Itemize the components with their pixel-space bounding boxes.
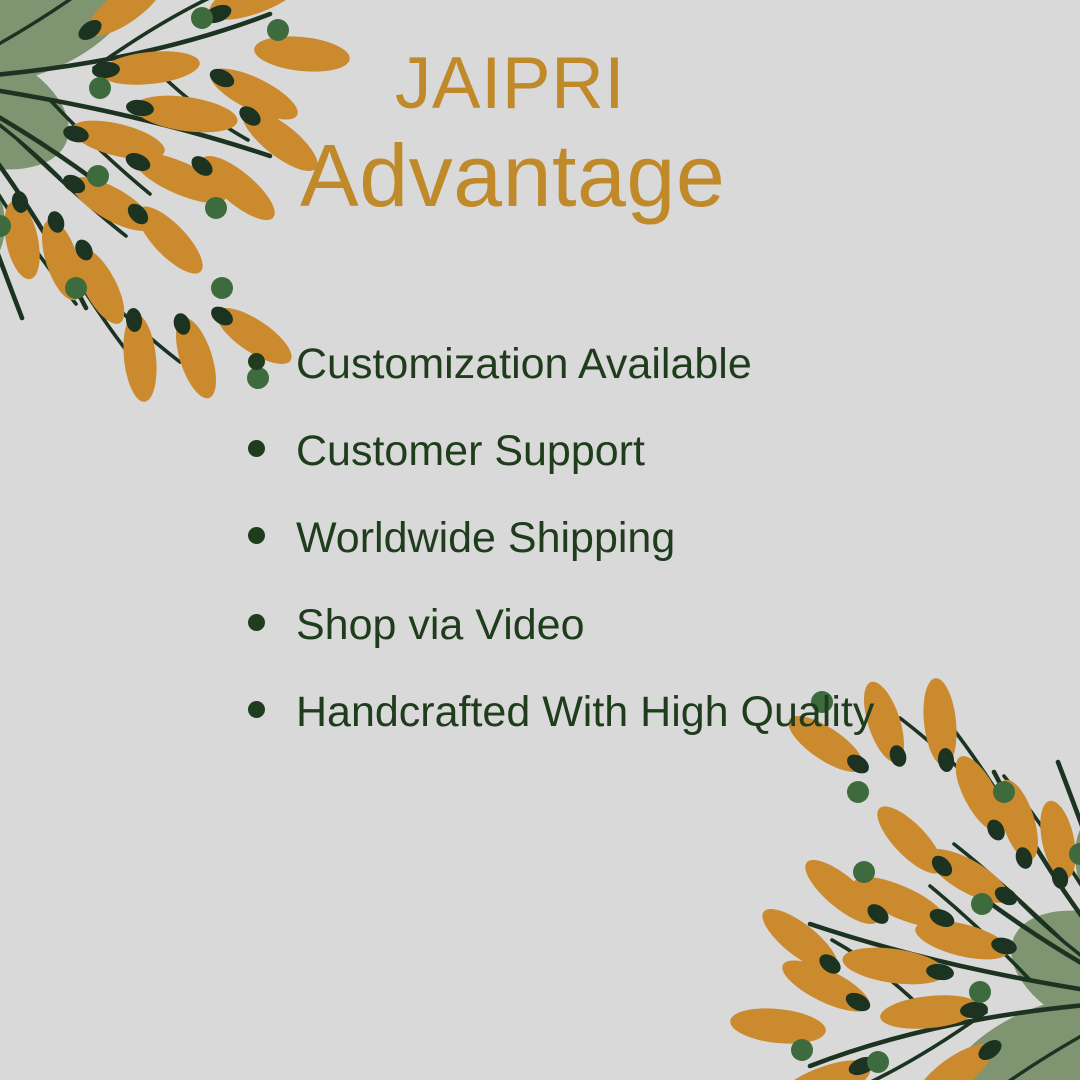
list-item: Shop via Video xyxy=(248,600,874,687)
poster-canvas: JAIPRI Advantage Customization Available… xyxy=(0,0,1080,1080)
bullet-icon xyxy=(248,527,265,544)
title-subject: Advantage xyxy=(300,126,720,226)
list-item: Handcrafted With High Quality xyxy=(248,687,874,774)
bullet-icon xyxy=(248,353,265,370)
list-item-label: Customization Available xyxy=(296,339,752,389)
title-brand-name: JAIPRI xyxy=(300,42,720,126)
list-item-label: Worldwide Shipping xyxy=(296,513,675,563)
bullet-icon xyxy=(248,440,265,457)
list-item: Customization Available xyxy=(248,339,874,426)
bullet-icon xyxy=(248,701,265,718)
page-title: JAIPRI Advantage xyxy=(300,42,720,226)
list-item: Worldwide Shipping xyxy=(248,513,874,600)
bullet-icon xyxy=(248,614,265,631)
list-item: Customer Support xyxy=(248,426,874,513)
list-item-label: Customer Support xyxy=(296,426,645,476)
list-item-label: Handcrafted With High Quality xyxy=(296,687,874,737)
advantage-feature-list: Customization Available Customer Support… xyxy=(248,339,874,774)
list-item-label: Shop via Video xyxy=(296,600,585,650)
